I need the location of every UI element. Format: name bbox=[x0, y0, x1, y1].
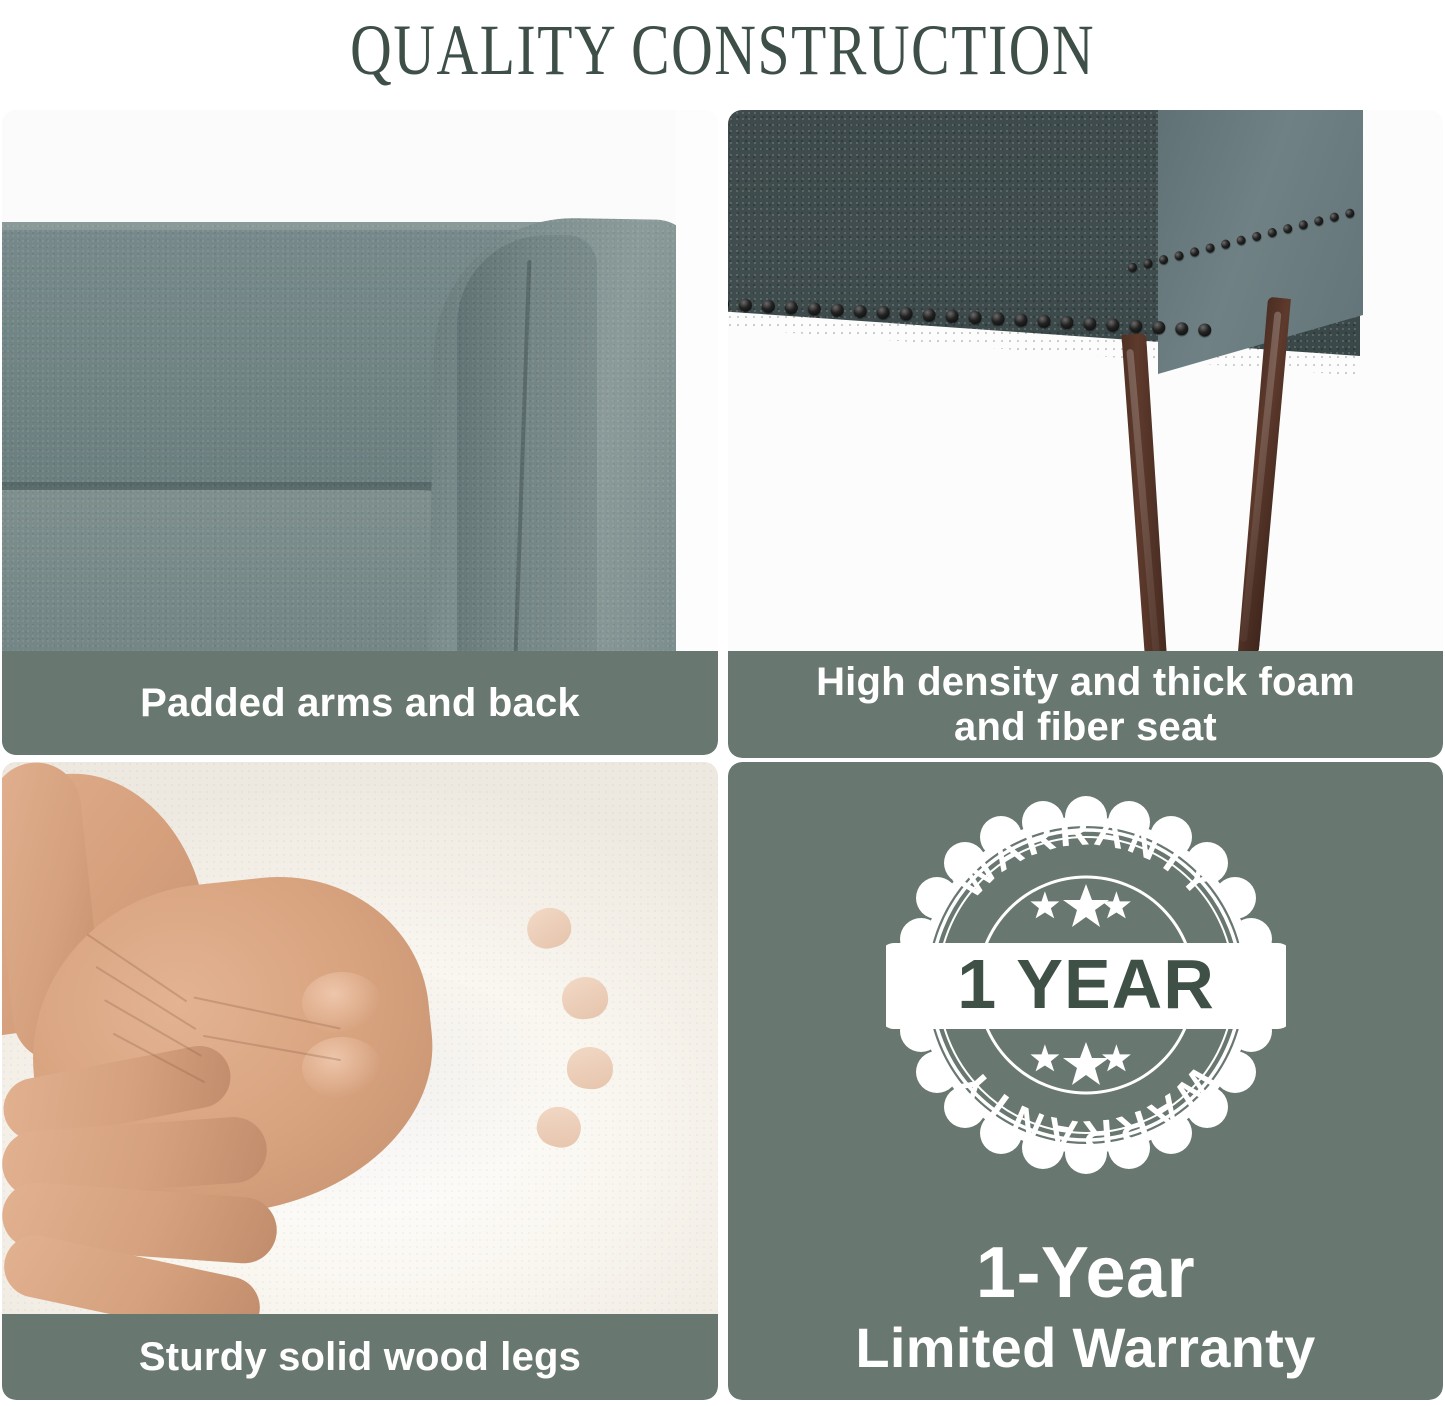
feature-panel-warranty: WARRANTY WARRANTY bbox=[728, 762, 1443, 1400]
caption-padded-arms: Padded arms and back bbox=[2, 651, 718, 755]
photo-hand-on-foam bbox=[2, 762, 718, 1400]
feature-panel-wood-legs: Sturdy solid wood legs bbox=[2, 762, 718, 1400]
caption-foam-seat-line1: High density and thick foam bbox=[816, 660, 1355, 705]
feature-panel-foam-seat: High density and thick foam and fiber se… bbox=[728, 110, 1443, 758]
feature-grid: Padded arms and back bbox=[0, 110, 1445, 1402]
feature-panel-padded-arms: Padded arms and back bbox=[2, 110, 718, 755]
warranty-text-block: 1-Year Limited Warranty bbox=[728, 1237, 1443, 1378]
caption-wood-legs: Sturdy solid wood legs bbox=[2, 1314, 718, 1400]
caption-foam-seat-line2: and fiber seat bbox=[816, 705, 1355, 750]
badge-banner-text: 1 YEAR bbox=[957, 945, 1215, 1023]
caption-foam-seat: High density and thick foam and fiber se… bbox=[728, 651, 1443, 758]
hand-illustration bbox=[2, 762, 718, 1400]
warranty-badge: WARRANTY WARRANTY bbox=[886, 796, 1286, 1174]
page-title-bar: QUALITY CONSTRUCTION bbox=[0, 0, 1445, 105]
page-title: QUALITY CONSTRUCTION bbox=[350, 14, 1095, 92]
warranty-line-2: Limited Warranty bbox=[728, 1319, 1443, 1378]
warranty-line-1: 1-Year bbox=[728, 1237, 1443, 1309]
